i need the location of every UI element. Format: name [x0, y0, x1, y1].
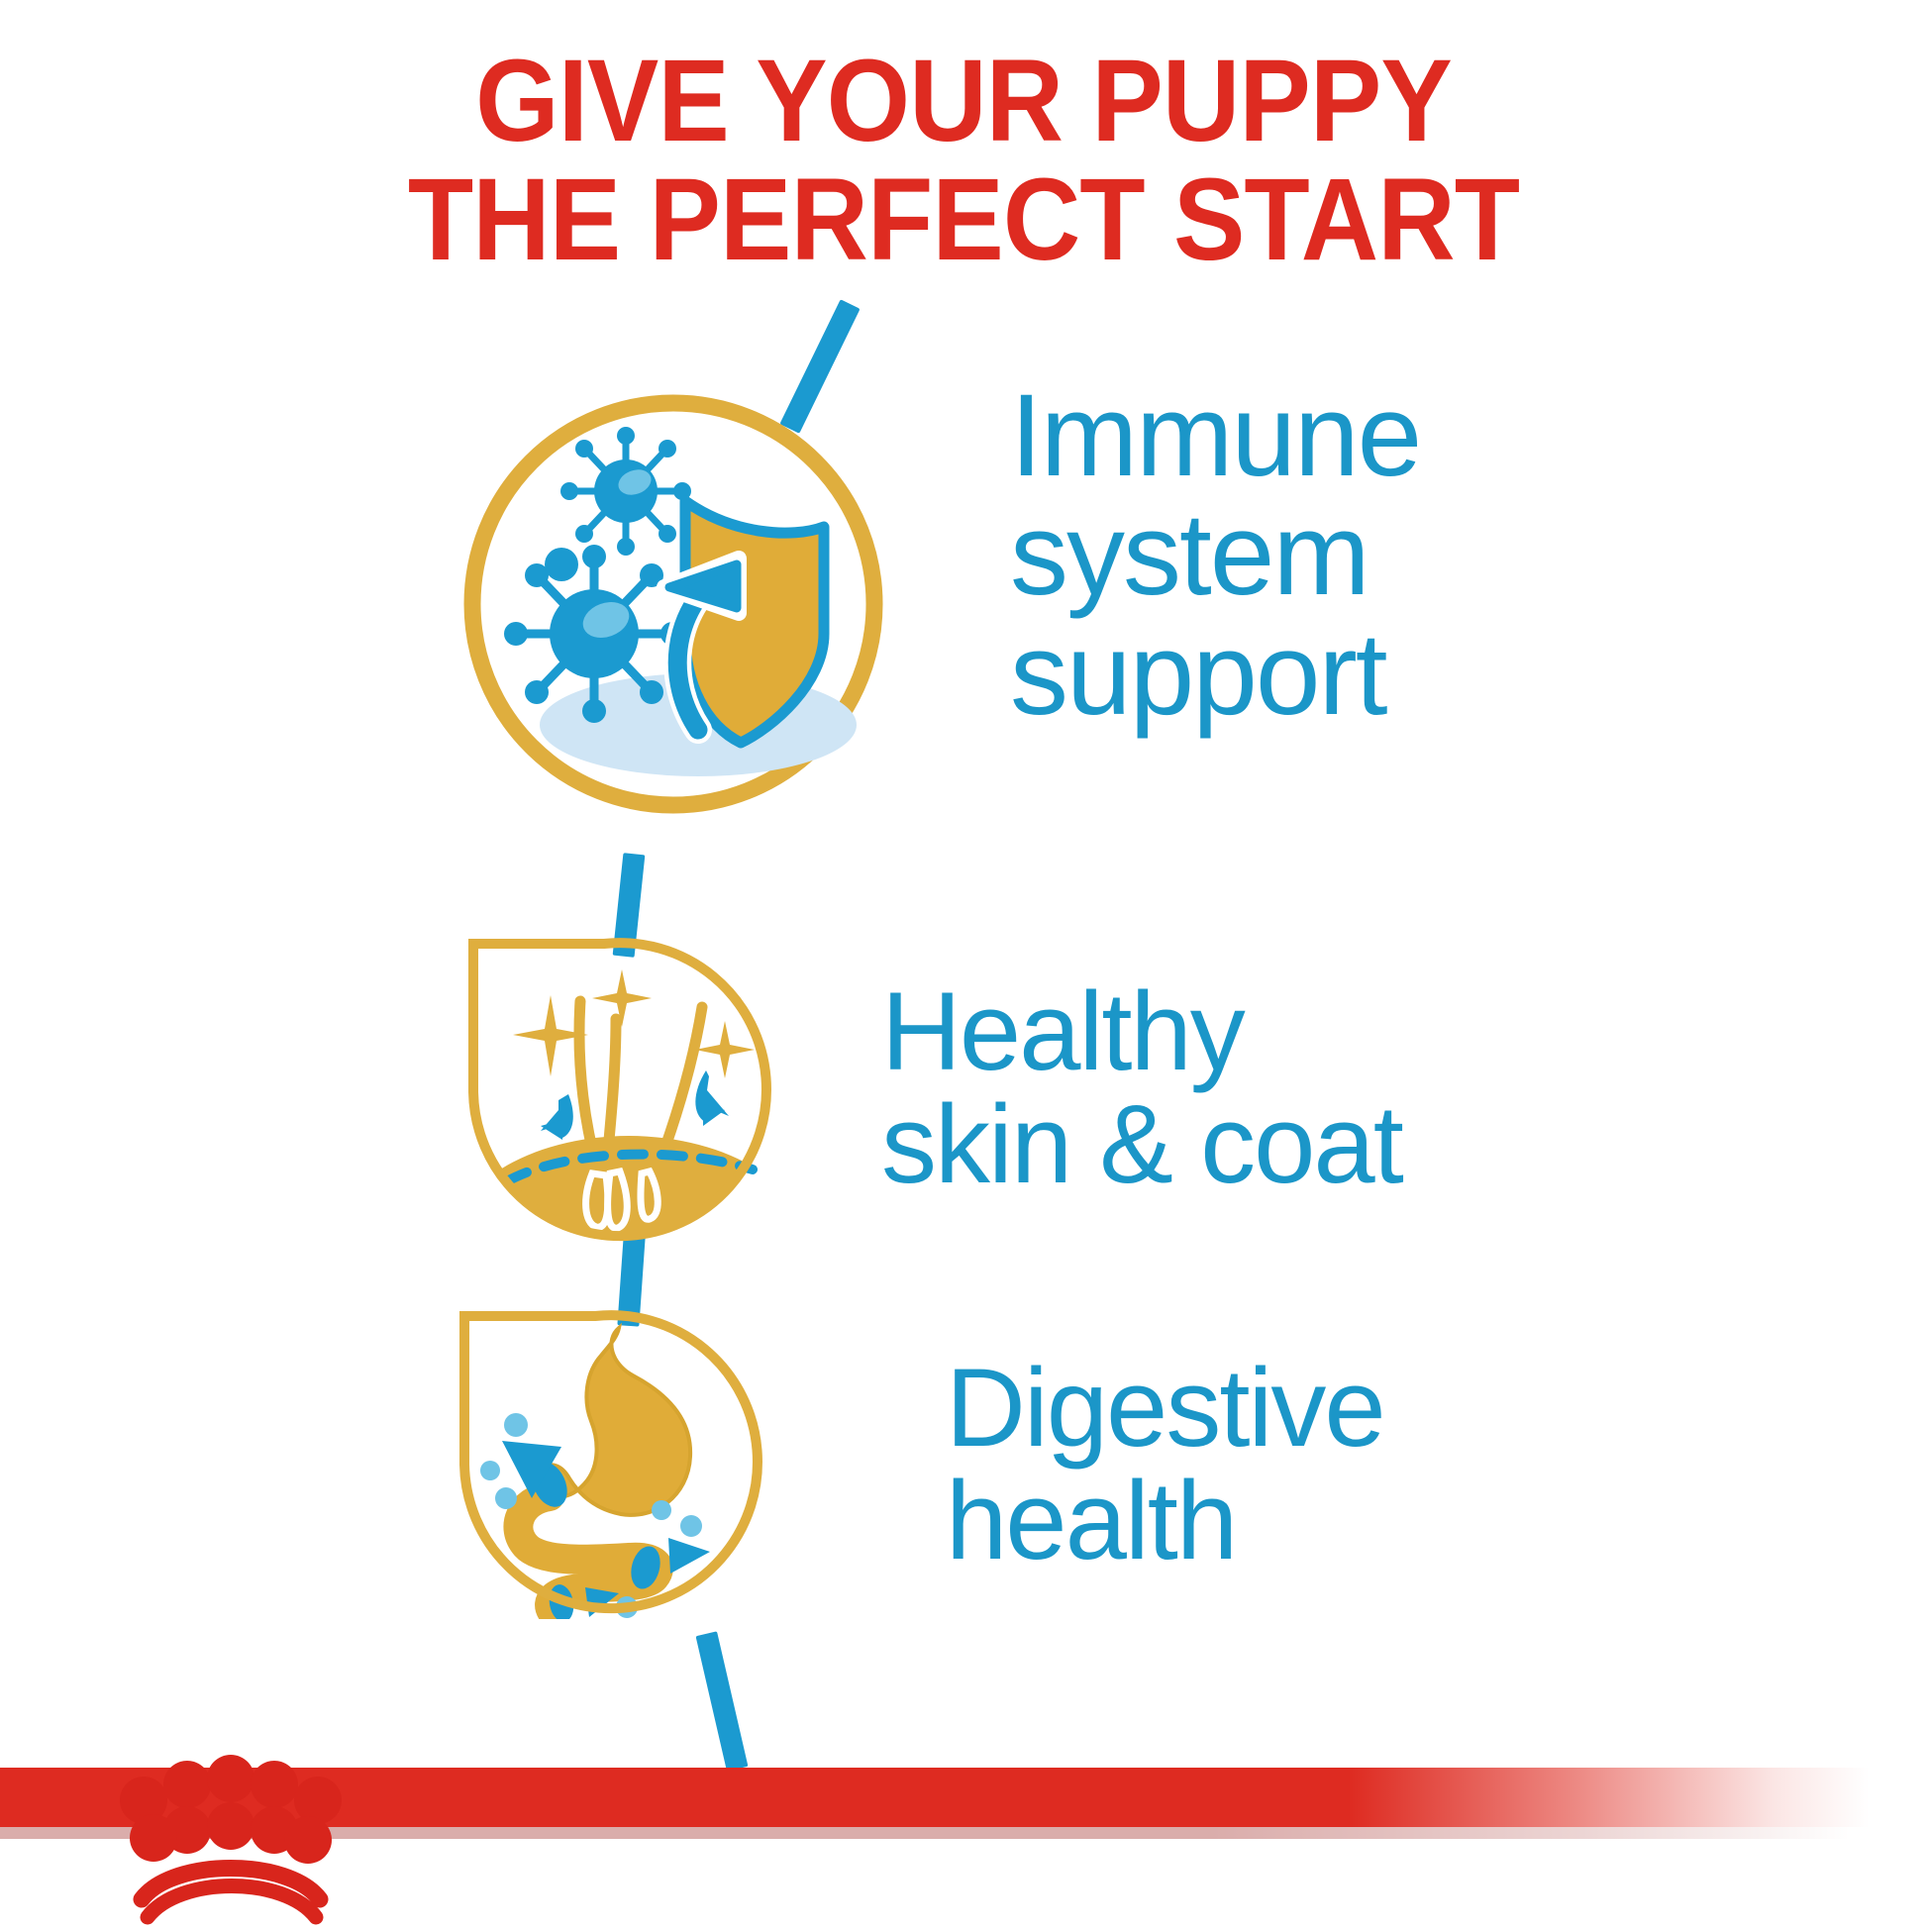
immune-shield-icon — [456, 386, 891, 822]
label-line: health — [946, 1465, 1384, 1577]
headline-line-2: THE PERFECT START — [77, 160, 1850, 279]
footer — [0, 1743, 1927, 1927]
label-line: support — [1010, 615, 1420, 734]
benefit-label-immune-system-support: Immune system support — [1010, 376, 1420, 734]
digestive-stomach-icon — [451, 1302, 777, 1619]
label-line: system — [1010, 495, 1420, 614]
benefit-row-digestive-health: Digestive health — [451, 1302, 1837, 1619]
page-title: GIVE YOUR PUPPY THE PERFECT START — [77, 42, 1850, 280]
benefit-label-healthy-skin-and-coat: Healthy skin & coat — [881, 975, 1402, 1201]
headline-line-1: GIVE YOUR PUPPY — [77, 42, 1850, 160]
benefit-label-digestive-health: Digestive health — [946, 1352, 1384, 1577]
label-line: Healthy — [881, 975, 1402, 1088]
label-line: Digestive — [946, 1352, 1384, 1465]
royal-canin-crown-logo — [104, 1743, 356, 1927]
benefit-row-healthy-skin-and-coat: Healthy skin & coat — [456, 926, 1842, 1253]
label-line: skin & coat — [881, 1088, 1402, 1201]
skin-coat-follicle-icon — [456, 926, 782, 1253]
label-line: Immune — [1010, 376, 1420, 495]
benefit-row-immune-system-support: Immune system support — [456, 386, 1842, 822]
